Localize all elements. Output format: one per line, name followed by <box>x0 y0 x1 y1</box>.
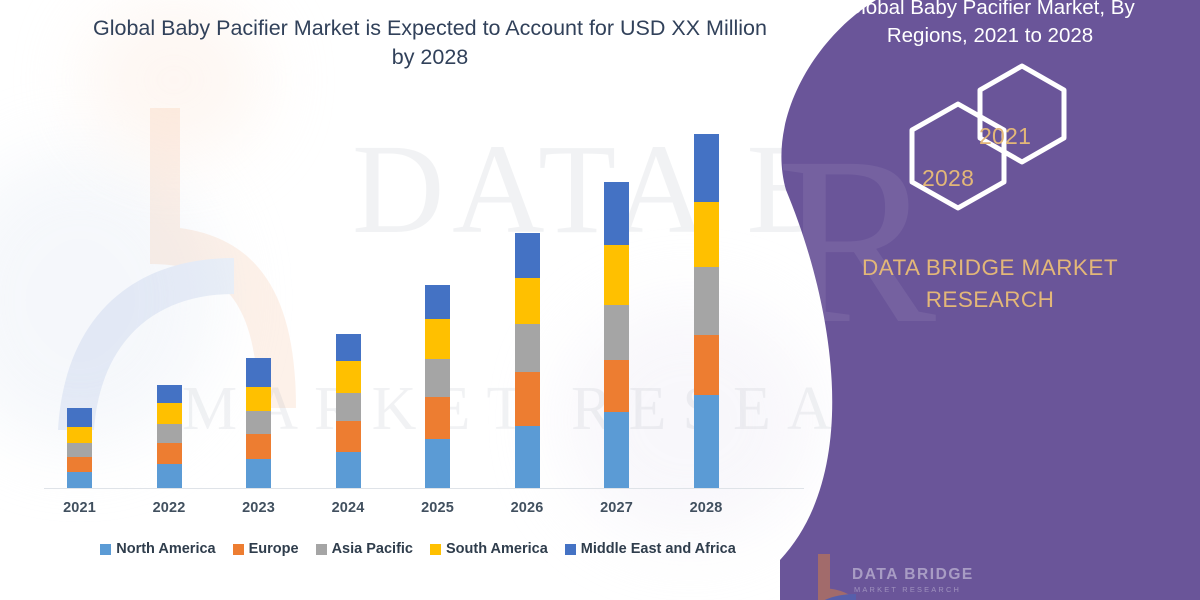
bar-segment[interactable] <box>336 421 361 452</box>
legend-item-0[interactable]: North America <box>100 541 215 557</box>
bar-segment[interactable] <box>246 387 271 411</box>
legend-label: Middle East and Africa <box>581 541 736 557</box>
legend-swatch-icon <box>316 544 327 555</box>
bar-segment[interactable] <box>246 411 271 434</box>
brand-name: DATA BRIDGE MARKET RESEARCH <box>806 252 1174 316</box>
bar-segment[interactable] <box>246 358 271 387</box>
bar-segment[interactable] <box>515 372 540 426</box>
bar-column-2021[interactable] <box>67 408 92 488</box>
bar-segment[interactable] <box>604 412 629 488</box>
legend-swatch-icon <box>100 544 111 555</box>
legend-label: North America <box>116 541 215 557</box>
bar-segment[interactable] <box>67 457 92 472</box>
bar-segment[interactable] <box>246 434 271 459</box>
bar-segment[interactable] <box>67 472 92 488</box>
bar-segment[interactable] <box>694 335 719 395</box>
bar-column-2025[interactable] <box>425 285 450 488</box>
data-bridge-logo-text: DATA BRIDGE <box>852 566 974 584</box>
legend-label: South America <box>446 541 548 557</box>
bar-segment[interactable] <box>515 426 540 488</box>
bar-segment[interactable] <box>425 439 450 488</box>
x-axis-tick-2021: 2021 <box>36 500 124 516</box>
chart-legend: North AmericaEuropeAsia PacificSouth Ame… <box>48 541 788 557</box>
x-axis-tick-2028: 2028 <box>662 500 750 516</box>
bar-segment[interactable] <box>157 403 182 424</box>
plot-area: 20212022202320242025202620272028 <box>0 0 900 600</box>
legend-swatch-icon <box>565 544 576 555</box>
bar-segment[interactable] <box>67 408 92 427</box>
hexagon-2028-shape <box>912 104 1004 208</box>
legend-label: Asia Pacific <box>332 541 413 557</box>
bar-column-2027[interactable] <box>604 182 629 488</box>
bar-segment[interactable] <box>336 361 361 393</box>
bar-column-2026[interactable] <box>515 233 540 488</box>
brand-panel: R Global Baby Pacifier Market, By Region… <box>780 0 1200 600</box>
bar-segment[interactable] <box>515 233 540 278</box>
bar-segment[interactable] <box>425 319 450 359</box>
bar-segment[interactable] <box>157 385 182 403</box>
legend-swatch-icon <box>233 544 244 555</box>
legend-item-4[interactable]: Middle East and Africa <box>565 541 736 557</box>
x-axis-tick-2022: 2022 <box>125 500 213 516</box>
bar-segment[interactable] <box>425 359 450 397</box>
bar-segment[interactable] <box>604 360 629 412</box>
bar-segment[interactable] <box>425 285 450 319</box>
x-axis-tick-2027: 2027 <box>573 500 661 516</box>
bar-segment[interactable] <box>515 278 540 324</box>
legend-label: Europe <box>249 541 299 557</box>
bar-segment[interactable] <box>336 334 361 361</box>
bar-column-2023[interactable] <box>246 358 271 488</box>
hexagon-2021-label: 2021 <box>979 123 1031 150</box>
bar-segment[interactable] <box>604 245 629 305</box>
bar-column-2028[interactable] <box>694 134 719 488</box>
bar-segment[interactable] <box>336 452 361 488</box>
hexagon-2028-label: 2028 <box>922 165 974 192</box>
bar-column-2022[interactable] <box>157 385 182 488</box>
bar-segment[interactable] <box>336 393 361 421</box>
bar-segment[interactable] <box>157 464 182 488</box>
bar-segment[interactable] <box>694 134 719 202</box>
bar-segment[interactable] <box>157 424 182 443</box>
x-axis-tick-2026: 2026 <box>483 500 571 516</box>
bar-segment[interactable] <box>515 324 540 372</box>
x-axis-tick-2024: 2024 <box>304 500 392 516</box>
bar-segment[interactable] <box>157 443 182 464</box>
bar-segment[interactable] <box>604 305 629 360</box>
bar-segment[interactable] <box>246 459 271 488</box>
chart-panel: DATA BRIDGE MARKET RESEARCH Global Baby … <box>0 0 900 600</box>
bar-segment[interactable] <box>67 443 92 457</box>
legend-item-3[interactable]: South America <box>430 541 548 557</box>
bar-segment[interactable] <box>694 267 719 335</box>
legend-swatch-icon <box>430 544 441 555</box>
bar-segment[interactable] <box>67 427 92 443</box>
x-axis-tick-2025: 2025 <box>394 500 482 516</box>
x-axis-tick-2023: 2023 <box>215 500 303 516</box>
axis-baseline <box>44 488 804 489</box>
bar-segment[interactable] <box>604 182 629 245</box>
bar-column-2024[interactable] <box>336 334 361 488</box>
legend-item-2[interactable]: Asia Pacific <box>316 541 413 557</box>
bar-segment[interactable] <box>694 395 719 488</box>
legend-item-1[interactable]: Europe <box>233 541 299 557</box>
bar-segment[interactable] <box>425 397 450 439</box>
bar-segment[interactable] <box>694 202 719 267</box>
data-bridge-logo-subtext: MARKET RESEARCH <box>854 585 961 594</box>
